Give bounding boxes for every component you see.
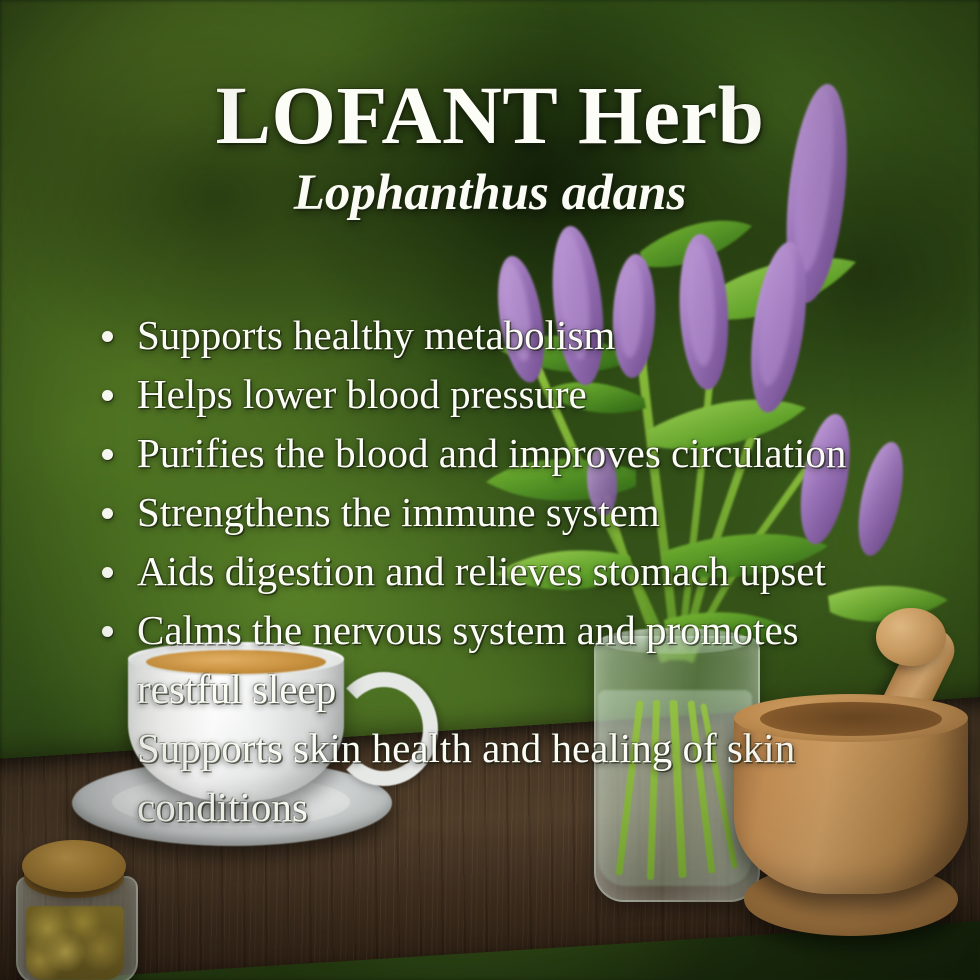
benefit-text: Supports healthy metabolism [137, 312, 615, 358]
text-overlay: LOFANT Herb Lophanthus adans Supports he… [0, 0, 980, 980]
bullet-dot-icon [102, 508, 113, 519]
benefit-item: Strengthens the immune system [96, 483, 886, 542]
bullet-dot-icon [102, 390, 113, 401]
benefit-text: Supports skin health and healing of skin… [137, 725, 795, 830]
page-title: LOFANT Herb [0, 74, 980, 157]
benefit-item: Purifies the blood and improves circulat… [96, 424, 886, 483]
benefit-text: Helps lower blood pressure [137, 371, 587, 417]
benefit-text: Strengthens the immune system [137, 489, 660, 535]
bullet-dot-icon [102, 626, 113, 637]
benefit-item: Supports healthy metabolism [96, 306, 886, 365]
benefit-text: Calms the nervous system and promotes re… [137, 607, 799, 712]
bullet-dot-icon [102, 567, 113, 578]
benefits-list: Supports healthy metabolismHelps lower b… [96, 306, 886, 837]
bullet-dot-icon [102, 449, 113, 460]
benefit-item: Aids digestion and relieves stomach upse… [96, 542, 886, 601]
benefit-item: Supports skin health and healing of skin… [96, 719, 886, 837]
benefit-item: Calms the nervous system and promotes re… [96, 601, 886, 719]
benefit-text: Aids digestion and relieves stomach upse… [137, 548, 826, 594]
bullet-dot-icon [102, 331, 113, 342]
latin-name-subtitle: Lophanthus adans [0, 168, 980, 219]
benefit-text: Purifies the blood and improves circulat… [137, 430, 846, 476]
benefit-item: Helps lower blood pressure [96, 365, 886, 424]
herb-infographic-poster: LOFANT Herb Lophanthus adans Supports he… [0, 0, 980, 980]
